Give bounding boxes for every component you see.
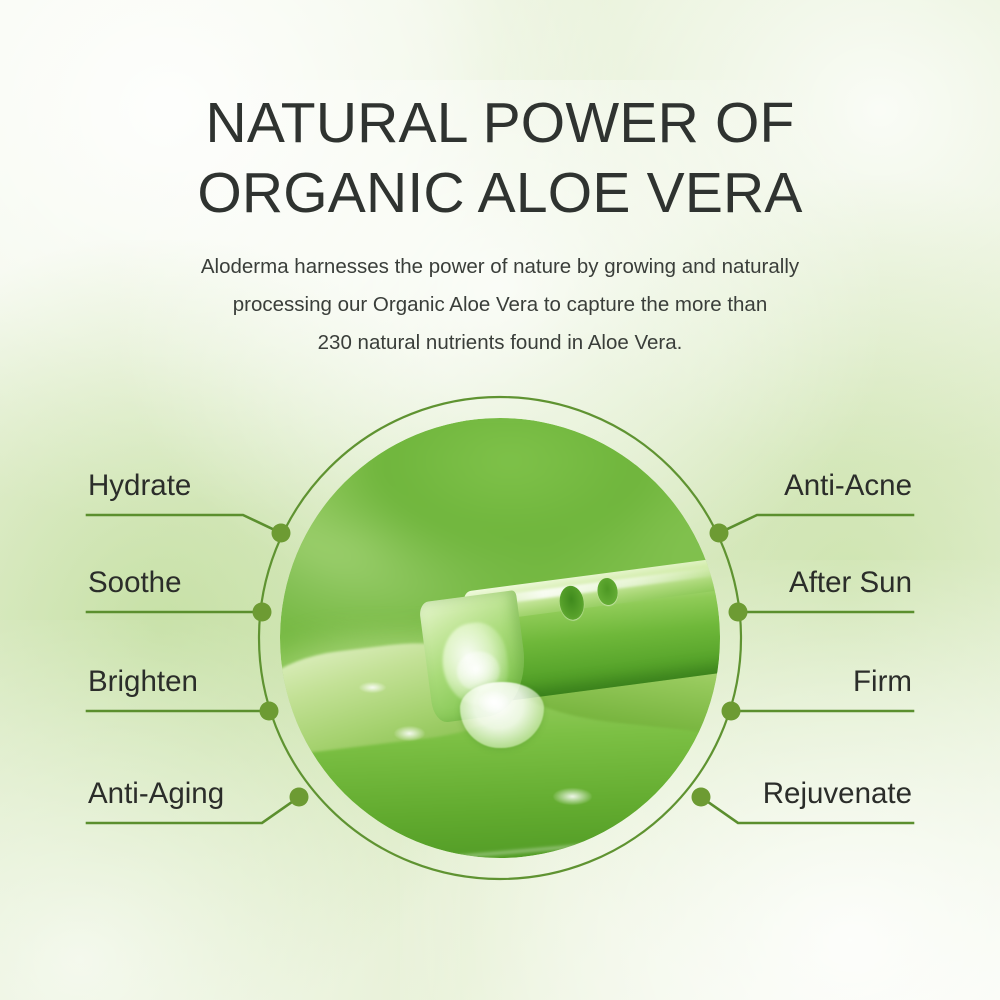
dot-anti-acne[interactable]	[710, 524, 729, 543]
connector-line-anti-acne	[719, 515, 913, 533]
infographic-canvas: NATURAL POWER OF ORGANIC ALOE VERA Alode…	[0, 0, 1000, 1000]
dot-rejuvenate[interactable]	[692, 788, 711, 807]
dot-firm[interactable]	[722, 702, 741, 721]
benefit-label-firm[interactable]: Firm	[853, 665, 912, 699]
benefit-label-anti-aging[interactable]: Anti-Aging	[88, 777, 224, 811]
dot-hydrate[interactable]	[272, 524, 291, 543]
benefit-label-rejuvenate[interactable]: Rejuvenate	[763, 777, 912, 811]
dot-soothe[interactable]	[253, 603, 272, 622]
benefit-label-anti-acne[interactable]: Anti-Acne	[784, 469, 912, 503]
benefit-label-after-sun[interactable]: After Sun	[789, 566, 912, 600]
connector-dots	[253, 524, 748, 807]
benefit-label-soothe[interactable]: Soothe	[88, 566, 182, 600]
benefit-diagram: Hydrate Soothe Brighten Anti-Aging Anti-…	[0, 0, 1000, 1000]
outer-ring-circle	[259, 397, 741, 879]
dot-after-sun[interactable]	[729, 603, 748, 622]
dot-brighten[interactable]	[260, 702, 279, 721]
benefit-label-brighten[interactable]: Brighten	[88, 665, 198, 699]
connector-line-hydrate	[87, 515, 281, 533]
benefit-label-hydrate[interactable]: Hydrate	[88, 469, 191, 503]
dot-anti-aging[interactable]	[290, 788, 309, 807]
